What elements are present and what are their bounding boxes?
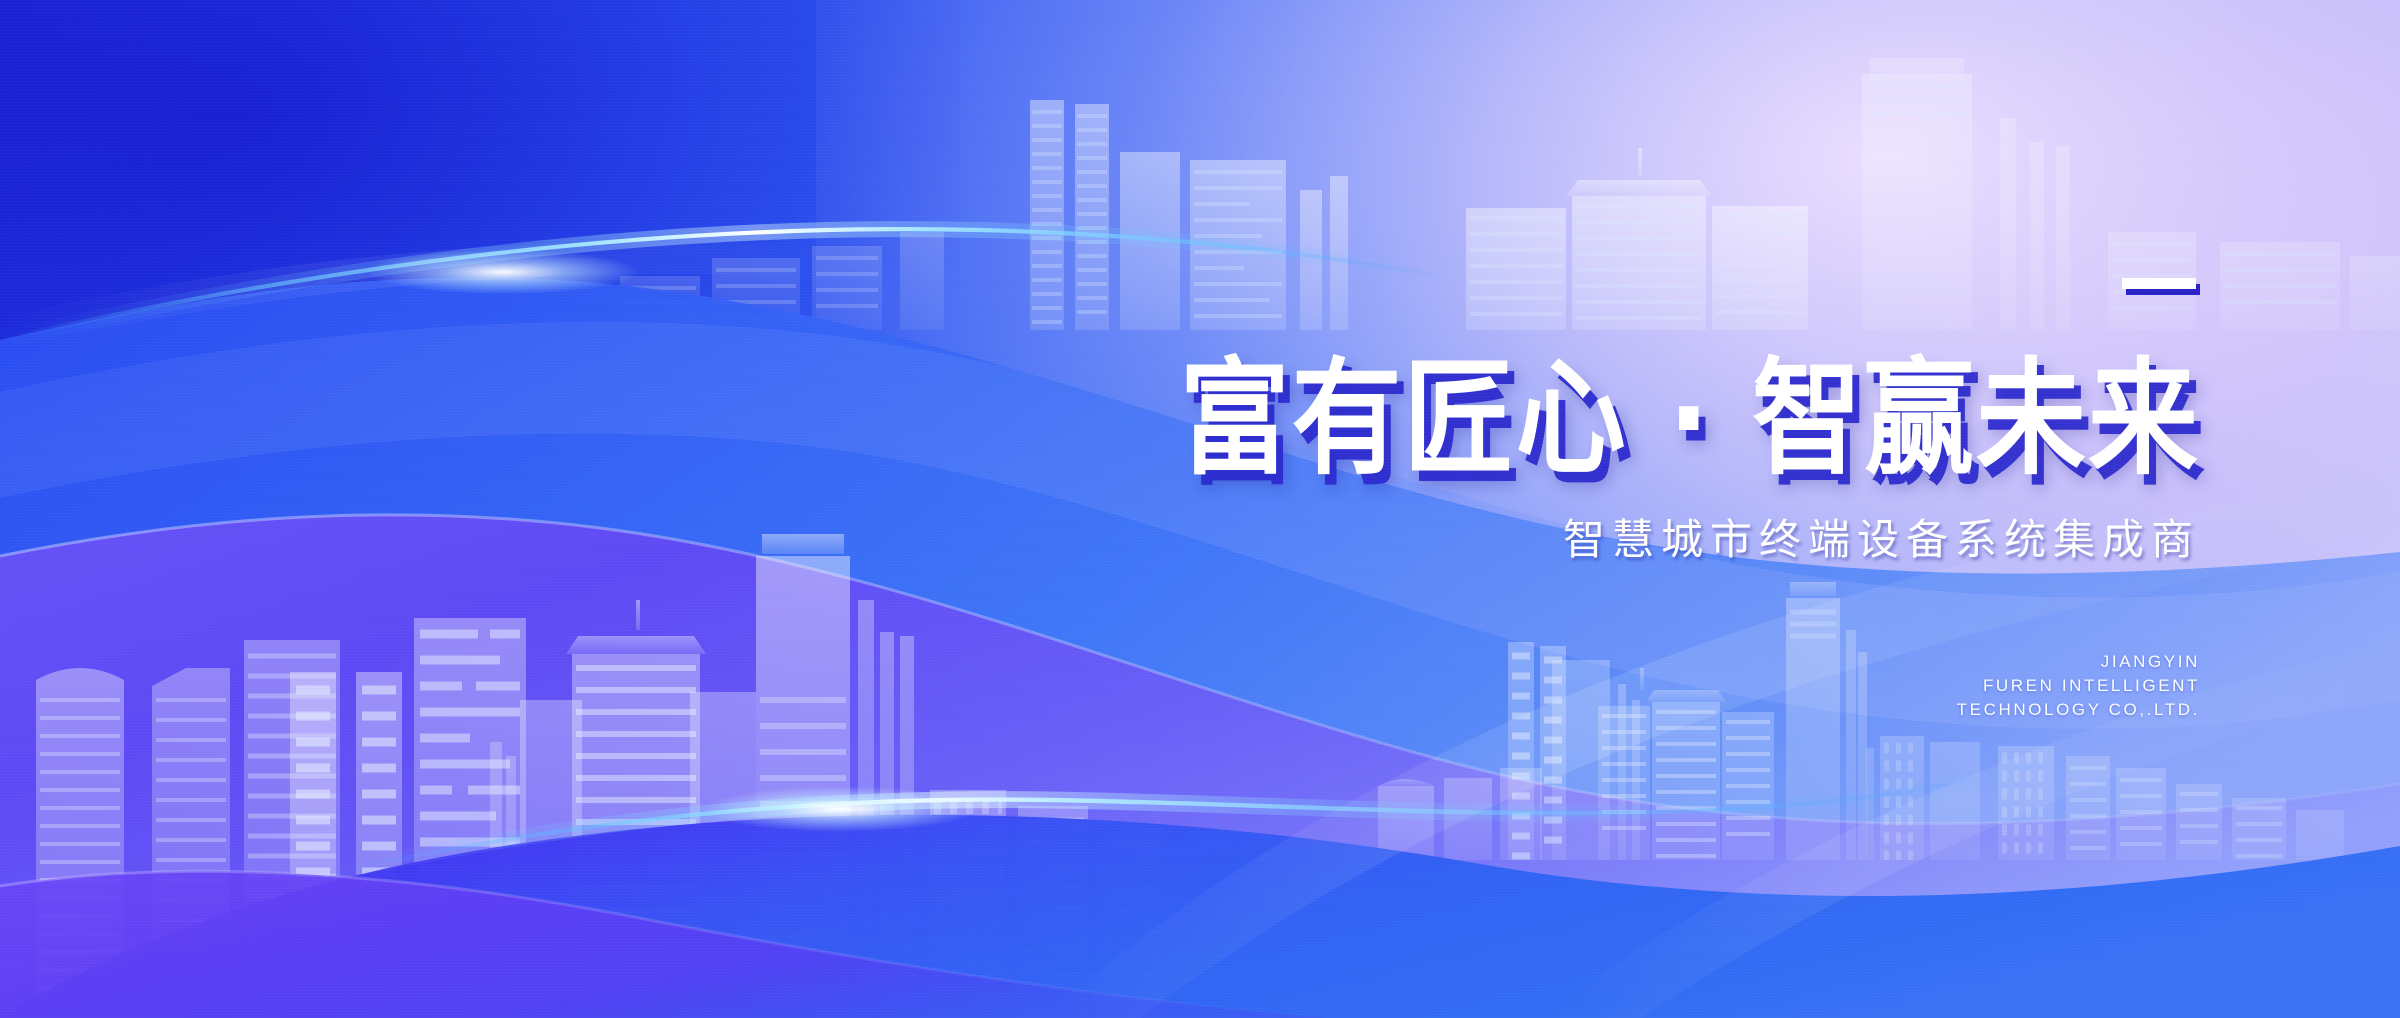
company-line-1: JIANGYIN — [1957, 650, 2200, 674]
company-line-2: FUREN INTELLIGENT — [1957, 674, 2200, 698]
company-name-block: JIANGYIN FUREN INTELLIGENT TECHNOLOGY CO… — [1957, 650, 2200, 722]
banner-content: 富有匠心 · 智赢未来 智慧城市终端设备系统集成商 JIANGYIN FUREN… — [0, 0, 2400, 1018]
banner-headline: 富有匠心 · 智赢未来 — [1180, 356, 2200, 481]
banner-subheadline: 智慧城市终端设备系统集成商 — [1563, 516, 2200, 564]
accent-dash-mark — [2122, 278, 2196, 289]
company-line-3: TECHNOLOGY CO,.LTD. — [1957, 698, 2200, 722]
promotional-banner: 富有匠心 · 智赢未来 智慧城市终端设备系统集成商 JIANGYIN FUREN… — [0, 0, 2400, 1018]
